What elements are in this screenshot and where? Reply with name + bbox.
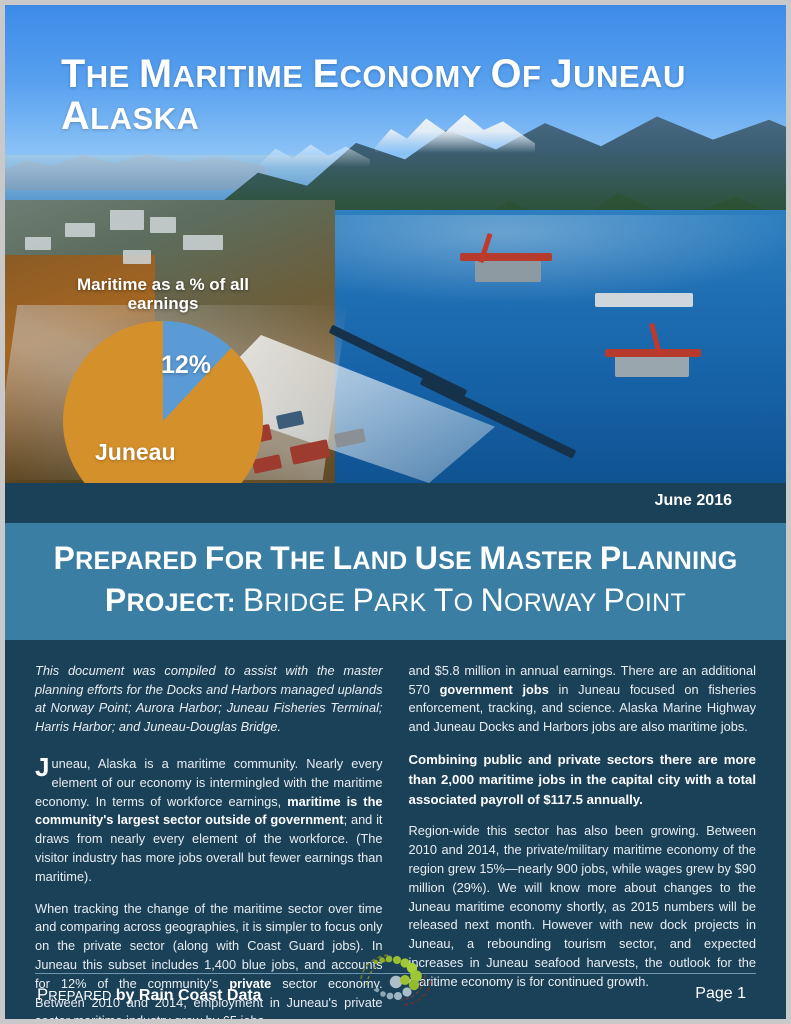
intro-paragraph: This document was compiled to assist wit… (35, 662, 383, 737)
house-roof (290, 439, 331, 465)
building (123, 250, 151, 264)
pie-slice-label-maritime: 12% (161, 351, 211, 380)
paragraph-region-growth: Region-wide this sector has also been gr… (409, 822, 757, 991)
emphasis-government-jobs: government jobs (440, 682, 549, 697)
pie-chart: Maritime as a % of all earnings 12% June… (53, 275, 283, 483)
subtitle-band: PREPARED FOR THE LAND USE MASTER PLANNIN… (5, 523, 786, 640)
subtitle-project-label: PROJECT: (105, 589, 236, 617)
footer-page-number: Page 1 (695, 985, 746, 1003)
pie-slice-label-juneau: Juneau (95, 439, 176, 466)
barge-deck (460, 253, 552, 261)
pie-chart-graphic: 12% Juneau (63, 321, 263, 483)
footer-prepared-label: PREPARED (37, 988, 112, 1003)
subtitle-line-1: PREPARED FOR THE LAND USE MASTER PLANNIN… (45, 539, 746, 577)
title-line-2: ALASKA (61, 95, 761, 137)
drop-cap: J (35, 755, 51, 778)
dock-platform (595, 293, 693, 307)
building (110, 210, 144, 230)
subtitle-line-2: PROJECT: BRIDGE PARK TO NORWAY POINT (45, 581, 746, 619)
paragraph-juneau-overview: Juneau, Alaska is a maritime community. … (35, 755, 383, 887)
building (150, 217, 176, 233)
hero-photo: THE MARITIME ECONOMY OF JUNEAU ALASKA Ma… (5, 5, 786, 483)
date-bar: June 2016 (5, 483, 786, 523)
barge (475, 260, 541, 282)
title-line-1: THE MARITIME ECONOMY OF JUNEAU (61, 53, 761, 95)
callout-paragraph: Combining public and private sectors the… (409, 750, 757, 809)
footer-organization: by Rain Coast Data (116, 987, 262, 1004)
report-page: THE MARITIME ECONOMY OF JUNEAU ALASKA Ma… (0, 0, 791, 1024)
rain-coast-data-logo-icon (353, 949, 439, 1011)
barge (615, 355, 689, 377)
building (65, 223, 95, 237)
paragraph-government-jobs: and $5.8 million in annual earnings. The… (409, 662, 757, 737)
page-title: THE MARITIME ECONOMY OF JUNEAU ALASKA (61, 53, 761, 138)
house-roof (334, 428, 366, 448)
subtitle-project-scope: BRIDGE PARK TO NORWAY POINT (236, 589, 686, 617)
building (25, 237, 51, 250)
footer-prepared-by: PREPARED by Rain Coast Data (37, 985, 262, 1005)
page-footer: PREPARED by Rain Coast Data Page 1 (5, 973, 786, 1019)
barge-deck (605, 349, 701, 357)
pie-chart-title: Maritime as a % of all earnings (63, 275, 263, 313)
publication-date: June 2016 (655, 492, 732, 510)
building (183, 235, 223, 250)
right-column: and $5.8 million in annual earnings. The… (409, 662, 757, 1024)
left-column: This document was compiled to assist wit… (35, 662, 383, 1024)
